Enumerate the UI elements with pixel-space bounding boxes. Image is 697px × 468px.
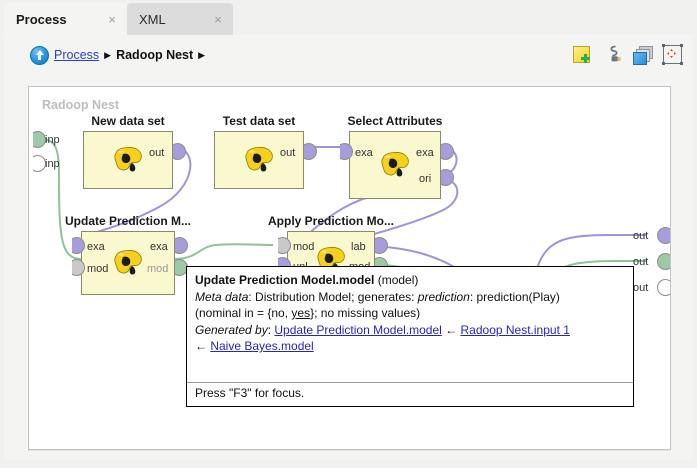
tooltip-link-radoop-nest-input[interactable]: Radoop Nest.input 1: [461, 323, 570, 337]
up-arrow-icon[interactable]: [30, 46, 49, 65]
toolbar-row: Process ▶ Radoop Nest ▶: [4, 36, 693, 74]
tooltip-arrow-1: ←: [445, 323, 457, 337]
tooltip-generated-label: Generated by: [195, 323, 268, 337]
nest-output-port-3[interactable]: [657, 279, 670, 296]
tooltip-link-naive-bayes[interactable]: Naive Bayes.model: [210, 339, 313, 353]
breadcrumb-separator-icon: ▶: [104, 51, 111, 60]
operator-test-data-set-out-label: out: [280, 147, 295, 159]
tooltip-nominal-underlined: yes: [291, 306, 310, 320]
wire-update-mod-to-apply-mod: [175, 244, 273, 259]
operator-update-prediction-model[interactable]: Update Prediction M... exa mod: [81, 231, 175, 295]
operator-select-attributes-out1-port[interactable]: [441, 143, 454, 160]
tab-process[interactable]: Process ×: [4, 3, 127, 36]
nest-output-port-2[interactable]: [657, 253, 670, 270]
radoop-elephant-icon: [242, 146, 276, 174]
nest-output-port-1[interactable]: [657, 227, 670, 244]
tooltip-link-update-model[interactable]: Update Prediction Model.model: [274, 323, 441, 337]
radoop-elephant-icon: [378, 151, 412, 179]
operator-update-prediction-model-title: Update Prediction M...: [65, 214, 191, 228]
operator-select-attributes-in-port[interactable]: [336, 143, 349, 160]
breadcrumb-current: Radoop Nest: [116, 48, 193, 62]
tooltip-title-row: Update Prediction Model.model (model): [195, 273, 626, 289]
operator-select-attributes[interactable]: Select Attributes exa exa: [349, 131, 441, 199]
operator-test-data-set-title: Test data set: [223, 114, 295, 128]
breadcrumb-root-link[interactable]: Process: [54, 48, 99, 62]
tooltip-meta-tail: : prediction(Play): [470, 290, 560, 304]
nest-output-port-1-label: out: [633, 230, 648, 242]
operator-select-attributes-title: Select Attributes: [348, 114, 443, 128]
operator-new-data-set-title: New data set: [91, 114, 164, 128]
operator-test-data-set[interactable]: Test data set out: [214, 131, 304, 189]
radoop-elephant-icon: [111, 146, 145, 174]
port-tooltip: Update Prediction Model.model (model) Me…: [186, 266, 634, 407]
operator-apply-in-mod-label: mod: [293, 241, 314, 253]
tooltip-nominal-post: }; no missing values): [310, 306, 420, 320]
operator-apply-in-mod-port[interactable]: [274, 237, 287, 254]
operator-new-data-set-out-port[interactable]: [173, 143, 186, 160]
operator-update-out-exa-label: exa: [150, 241, 168, 253]
operator-update-out-exa-port[interactable]: [175, 237, 188, 254]
breadcrumb-trailing-icon: ▶: [198, 51, 205, 60]
tooltip-meta-text: : Distribution Model; generates:: [248, 290, 417, 304]
operator-update-in-mod-port[interactable]: [68, 259, 81, 276]
tooltip-body: Update Prediction Model.model (model) Me…: [187, 267, 633, 382]
toolbar-buttons: [572, 44, 683, 65]
tooltip-arrow-2: ←: [195, 339, 207, 353]
operator-select-attributes-out2-port[interactable]: [441, 169, 454, 186]
tooltip-generated-row: Generated by: Update Prediction Model.mo…: [195, 323, 626, 339]
cable-plug-icon[interactable]: [602, 44, 623, 65]
nest-input-port-2-label: inp: [45, 158, 60, 170]
breadcrumb: Process ▶ Radoop Nest ▶: [30, 45, 205, 65]
fit-to-view-icon[interactable]: [662, 44, 683, 65]
operator-apply-prediction-model-title: Apply Prediction Mo...: [268, 214, 394, 228]
tooltip-meta-em: prediction: [418, 290, 470, 304]
tooltip-title-suffix: (model): [378, 273, 419, 287]
operator-apply-out-lab-label: lab: [351, 241, 366, 253]
tooltip-title: Update Prediction Model.model: [195, 273, 374, 287]
operator-select-attributes-out2-label: ori: [419, 173, 431, 185]
operator-test-data-set-out-port[interactable]: [304, 143, 317, 160]
operator-update-out-mod-label: mod: [147, 263, 168, 275]
tooltip-meta-label: Meta data: [195, 290, 248, 304]
tab-process-close-icon[interactable]: ×: [106, 14, 118, 26]
tab-bar: Process × XML ×: [0, 0, 697, 36]
add-note-icon[interactable]: [572, 44, 593, 65]
operator-apply-out-lab-port[interactable]: [375, 237, 388, 254]
tooltip-nominal-pre: (nominal in = {no,: [195, 306, 291, 320]
layers-icon[interactable]: [632, 44, 653, 65]
operator-new-data-set-out-label: out: [149, 147, 164, 159]
tab-xml[interactable]: XML ×: [127, 3, 233, 36]
operator-update-in-exa-label: exa: [87, 241, 105, 253]
tab-process-label: Process: [16, 12, 67, 27]
tooltip-generated-row-2: ← Naive Bayes.model: [195, 339, 626, 355]
operator-update-in-exa-port[interactable]: [68, 237, 81, 254]
operator-update-in-mod-label: mod: [87, 263, 108, 275]
tab-xml-label: XML: [139, 12, 166, 27]
operator-select-attributes-out1-label: exa: [416, 147, 434, 159]
process-editor-window: Process × XML × Process ▶ Radoop Nest ▶: [0, 0, 697, 468]
nest-input-port-1[interactable]: [29, 131, 42, 148]
nest-output-port-2-label: out: [633, 256, 648, 268]
tooltip-footer: Press "F3" for focus.: [187, 382, 633, 406]
operator-new-data-set[interactable]: New data set out: [83, 131, 173, 189]
tab-xml-close-icon[interactable]: ×: [212, 14, 224, 26]
operator-select-attributes-in-label: exa: [355, 147, 373, 159]
nest-input-port-1-label: inp: [45, 134, 60, 146]
tooltip-meta-row: Meta data: Distribution Model; generates…: [195, 290, 626, 306]
radoop-elephant-icon: [111, 249, 145, 277]
nest-input-port-2[interactable]: [29, 155, 42, 172]
nest-output-port-3-label: out: [633, 282, 648, 294]
tooltip-nominal-row: (nominal in = {no, yes}; no missing valu…: [195, 306, 626, 322]
